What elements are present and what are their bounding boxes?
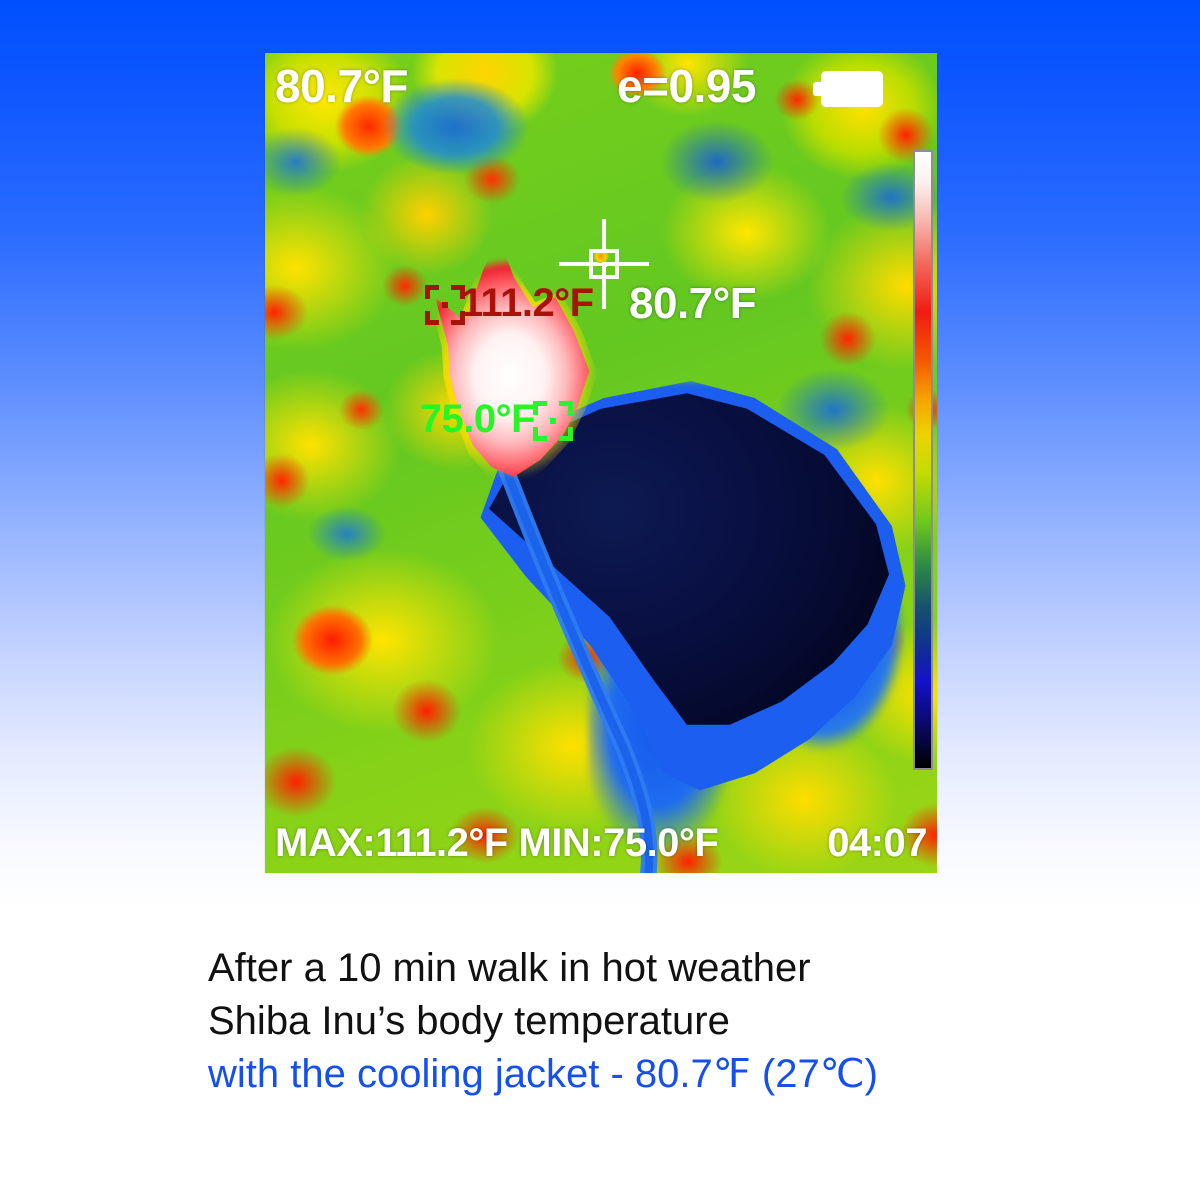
max-temperature-label: 111.2°F — [461, 281, 594, 326]
min-temperature-label: 75.0°F — [420, 397, 535, 442]
max-temperature-marker[interactable]: 111.2°F — [425, 285, 465, 325]
osd-min-max-readout: MAX:111.2°F MIN:75.0°F — [275, 821, 718, 866]
center-temperature-label: 80.7°F — [629, 279, 756, 329]
color-scale-bar — [913, 150, 933, 770]
thermal-camera-image: 80.7°F e=0.95 111.2°F 75.0°F 80.7°F MAX:… — [265, 53, 937, 873]
osd-emissivity: e=0.95 — [617, 59, 756, 113]
max-spot-bracket-icon — [425, 285, 465, 325]
min-temperature-marker[interactable]: 75.0°F — [533, 401, 573, 441]
center-spot-marker[interactable]: 80.7°F — [581, 241, 627, 287]
osd-status-bar: MAX:111.2°F MIN:75.0°F 04:07 — [265, 821, 937, 869]
caption-line-1: After a 10 min walk in hot weather — [208, 942, 1048, 995]
center-crosshair-icon — [581, 241, 627, 287]
min-spot-bracket-icon — [533, 401, 573, 441]
caption-block: After a 10 min walk in hot weather Shiba… — [208, 942, 1048, 1101]
caption-line-3: with the cooling jacket - 80.7℉ (27℃) — [208, 1048, 1048, 1101]
caption-line-2: Shiba Inu’s body temperature — [208, 995, 1048, 1048]
osd-center-temperature: 80.7°F — [275, 59, 408, 113]
battery-fill — [826, 76, 878, 102]
osd-clock: 04:07 — [827, 821, 927, 866]
battery-icon — [813, 71, 885, 107]
